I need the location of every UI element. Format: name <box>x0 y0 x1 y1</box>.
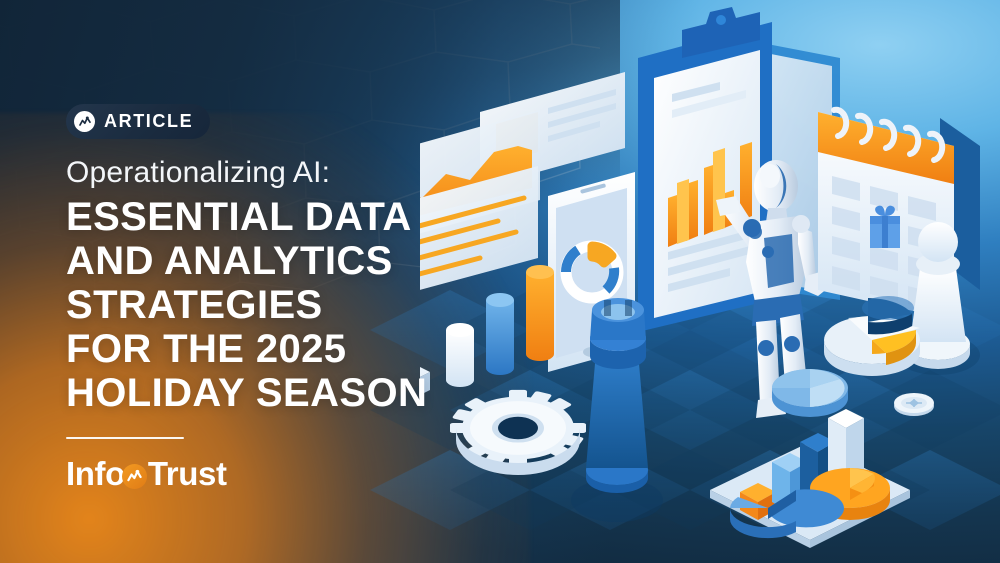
headline-line-4: FOR THE 2025 <box>66 327 486 371</box>
logo-text-info: Info <box>66 455 125 493</box>
logo-text-trust: Trust <box>148 455 227 493</box>
article-hero-banner: ARTICLE Operationalizing AI: ESSENTIAL D… <box>0 0 1000 563</box>
article-badge-label: ARTICLE <box>104 111 193 132</box>
analytics-platform-tile <box>710 409 910 548</box>
headline-line-1: ESSENTIAL DATA <box>66 195 486 239</box>
chart-line-circle-icon <box>74 111 95 132</box>
headline-line-5: HOLIDAY SEASON <box>66 371 486 415</box>
hero-text-block: ARTICLE Operationalizing AI: ESSENTIAL D… <box>66 104 486 493</box>
heading-kicker: Operationalizing AI: <box>66 157 486 189</box>
pie-chart-3d-light-blue <box>772 369 848 417</box>
article-badge[interactable]: ARTICLE <box>66 104 210 139</box>
headline-line-3: STRATEGIES <box>66 283 486 327</box>
page-title: ESSENTIAL DATA AND ANALYTICS STRATEGIES … <box>66 195 486 415</box>
headline-line-2: AND ANALYTICS <box>66 239 486 283</box>
pie-chart-3d-blue-yellow <box>824 296 920 376</box>
isometric-ai-analytics-illustration <box>420 0 1000 563</box>
coin-token <box>894 393 934 416</box>
infotrust-logo-mark-icon <box>122 464 147 489</box>
infotrust-logo[interactable]: Info Trust <box>66 455 486 493</box>
title-divider <box>66 437 184 439</box>
